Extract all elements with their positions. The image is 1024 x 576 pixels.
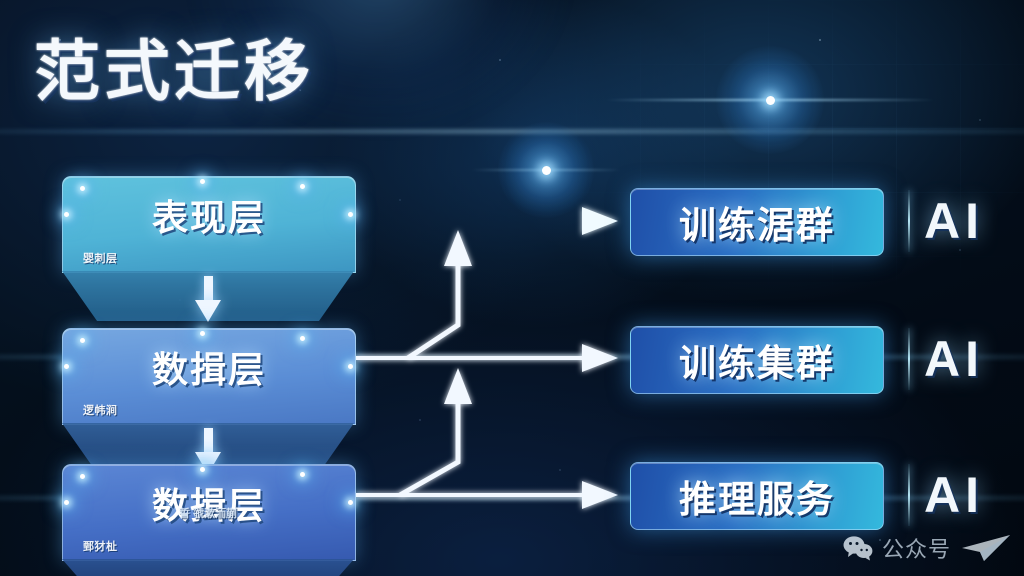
paper-plane-icon bbox=[960, 533, 1012, 563]
flare-core bbox=[542, 166, 551, 175]
pill-label: 训练集群 bbox=[679, 333, 835, 387]
pill-training-pool[interactable]: 训练涺群 bbox=[630, 188, 884, 256]
pill-training-cluster[interactable]: 训练集群 bbox=[630, 326, 884, 394]
arrow-branch-up-lower bbox=[400, 368, 472, 495]
pill-label: 训练涺群 bbox=[679, 195, 835, 249]
bracket-icon bbox=[908, 190, 910, 252]
stack-box-sublabel: 逻帏涧 bbox=[83, 402, 118, 418]
stack-box-label: 数揖层 bbox=[63, 341, 355, 393]
sparkle-icon bbox=[64, 500, 69, 505]
wechat-icon bbox=[843, 535, 873, 561]
stack-tail-sublabel: 誓 虢漱洏蒯 bbox=[62, 505, 354, 521]
sparkle-icon bbox=[348, 500, 353, 505]
watermark: 公众号 bbox=[843, 532, 1012, 564]
sparkle-icon bbox=[348, 212, 353, 217]
stack-box-sublabel: 婴刺层 bbox=[83, 250, 118, 266]
down-arrow-presentation-to-data bbox=[195, 276, 221, 322]
pill-label: 推理服务 bbox=[679, 469, 835, 523]
ai-badge-training-cluster: AI bbox=[908, 328, 984, 390]
stack-box-label: 数揖层 bbox=[63, 477, 355, 529]
bracket-icon bbox=[908, 464, 910, 526]
lens-flare-top bbox=[716, 46, 824, 154]
sparkle-icon bbox=[200, 467, 205, 472]
sparkle-icon bbox=[300, 472, 305, 477]
ai-badge-label: AI bbox=[924, 330, 984, 388]
lens-flare-middle bbox=[498, 122, 594, 218]
sparkle-icon bbox=[64, 364, 69, 369]
arrow-data-to-inference-service bbox=[356, 481, 618, 509]
sparkle-icon bbox=[80, 474, 85, 479]
sparkle-icon bbox=[64, 212, 69, 217]
stack-box-presentation-layer[interactable]: 表现层 婴刺层 bbox=[62, 176, 356, 273]
sparkle-icon bbox=[348, 364, 353, 369]
sparkle-icon bbox=[300, 336, 305, 341]
stack-box-tail-data-lower bbox=[62, 559, 354, 576]
ai-badge-label: AI bbox=[924, 466, 984, 524]
light-beam-top bbox=[0, 130, 1024, 133]
stack-box-sublabel: 鄄犲杫 bbox=[83, 538, 118, 554]
stack-box-label: 表现层 bbox=[63, 189, 355, 241]
ai-badge-inference-service: AI bbox=[908, 464, 984, 526]
flare-core bbox=[766, 96, 775, 105]
sparkle-icon bbox=[200, 331, 205, 336]
sparkle-icon bbox=[80, 338, 85, 343]
bracket-icon bbox=[908, 328, 910, 390]
pill-inference-service[interactable]: 推理服务 bbox=[630, 462, 884, 530]
stack-box-data-layer-upper[interactable]: 数揖层 逻帏涧 bbox=[62, 328, 356, 425]
sparkle-icon bbox=[200, 179, 205, 184]
ai-badge-label: AI bbox=[924, 192, 984, 250]
page-title: 范式迁移 bbox=[34, 18, 314, 114]
arrow-head bbox=[195, 300, 221, 322]
slide-canvas: 范式迁移 表现层 婴刺层 数揖层 逻帏涧 数揖层 鄄犲杫 誓 虢漱洏蒯 bbox=[0, 0, 1024, 576]
watermark-label: 公众号 bbox=[882, 532, 951, 564]
sparkle-icon bbox=[300, 184, 305, 189]
ai-badge-training-pool: AI bbox=[908, 190, 984, 252]
sparkle-icon bbox=[80, 186, 85, 191]
